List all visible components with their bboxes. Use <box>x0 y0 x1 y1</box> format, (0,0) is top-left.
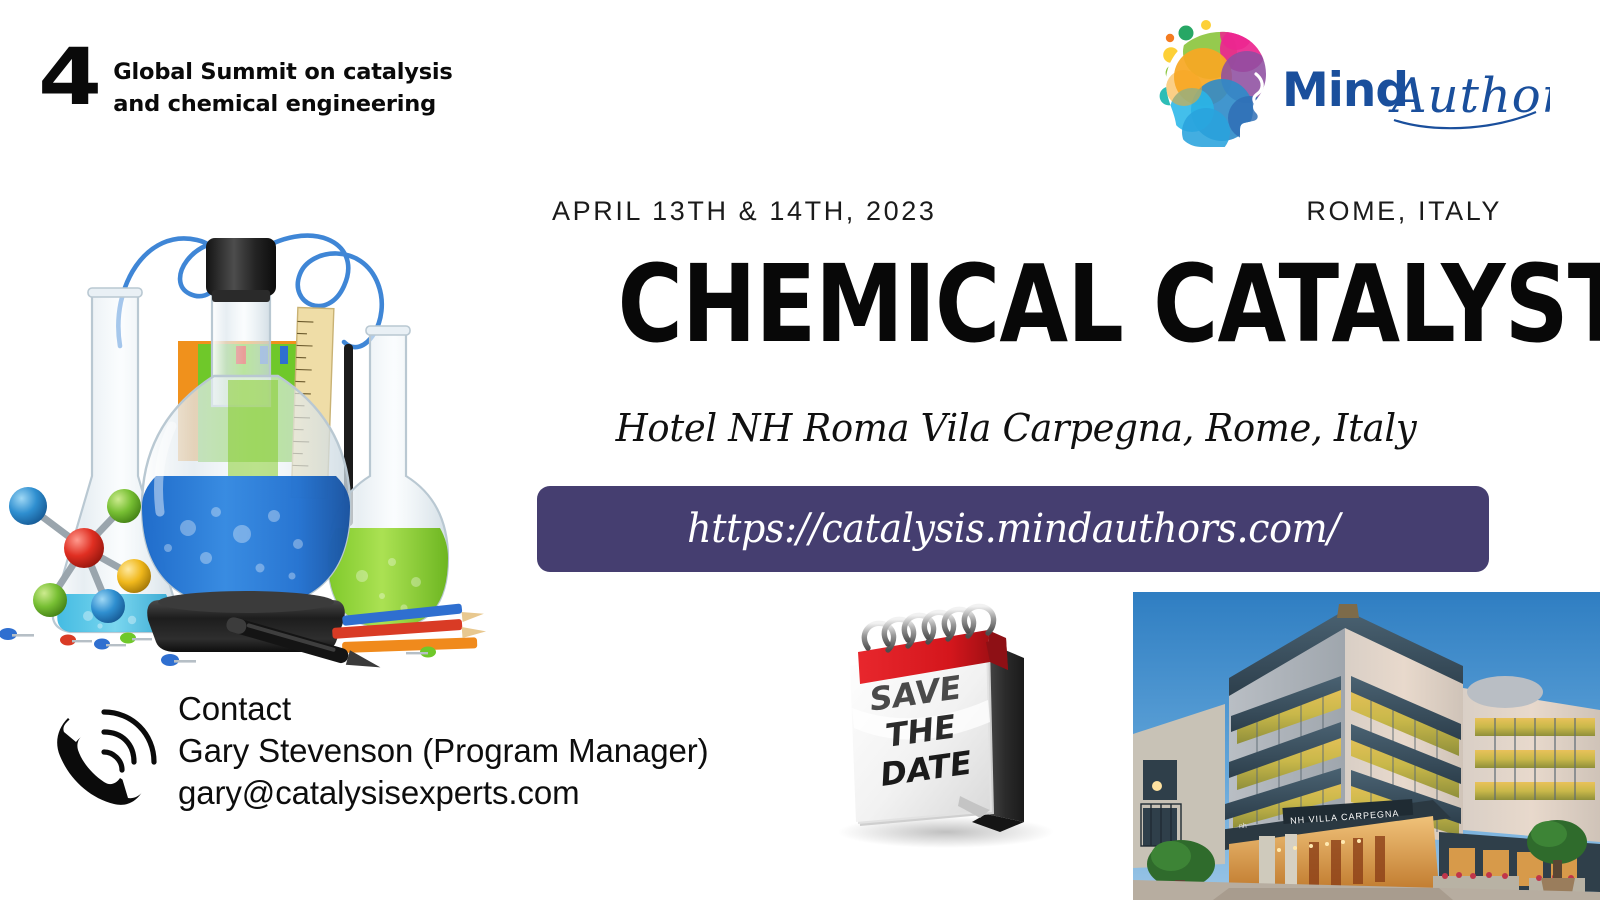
save-the-date-calendar: SAVE THE DATE <box>810 600 1078 850</box>
website-url[interactable]: https://catalysis.mindauthors.com/ <box>687 506 1340 552</box>
contact-details: Contact Gary Stevenson (Program Manager)… <box>178 688 798 818</box>
contact-person: Gary Stevenson (Program Manager) <box>178 730 798 772</box>
edition-number: 4 <box>38 44 99 113</box>
page-title: CHEMICAL CATALYST 2023 <box>618 251 1415 360</box>
svg-text:Mind: Mind <box>1282 63 1408 118</box>
conference-poster: 4 Global Summit on catalysis and chemica… <box>0 0 1600 900</box>
hotel-building-image: NH VILLA CARPEGNA nh <box>1133 592 1600 900</box>
edition-title: Global Summit on catalysis and chemical … <box>113 57 452 121</box>
mindauthors-logo[interactable]: Mind Authors INNOVATING MINDS FOR EXCELL… <box>1148 14 1548 164</box>
edition-heading: 4 Global Summit on catalysis and chemica… <box>38 44 453 121</box>
contact-block: Contact Gary Stevenson (Program Manager)… <box>44 690 804 825</box>
website-url-bar[interactable]: https://catalysis.mindauthors.com/ <box>537 486 1489 572</box>
contact-email[interactable]: gary@catalysisexperts.com <box>178 772 798 814</box>
hotel-photo: NH VILLA CARPEGNA nh <box>1133 592 1600 900</box>
event-date: APRIL 13TH & 14TH, 2023 <box>552 196 936 227</box>
event-meta-row: APRIL 13TH & 14TH, 2023 ROME, ITALY <box>552 196 1502 232</box>
contact-label: Contact <box>178 688 798 730</box>
phone-call-icon <box>44 698 168 810</box>
logo-wordmark: Mind Authors <box>1280 50 1550 150</box>
event-location: ROME, ITALY <box>1306 196 1502 227</box>
chemistry-glassware-illustration <box>0 176 548 668</box>
brain-head-icon <box>1148 14 1288 154</box>
edition-title-line2: and chemical engineering <box>113 89 452 121</box>
edition-title-line1: Global Summit on catalysis <box>113 57 452 89</box>
svg-text:nh: nh <box>1239 823 1247 831</box>
venue-name: Hotel NH Roma Vila Carpegna, Rome, Italy <box>550 406 1481 450</box>
